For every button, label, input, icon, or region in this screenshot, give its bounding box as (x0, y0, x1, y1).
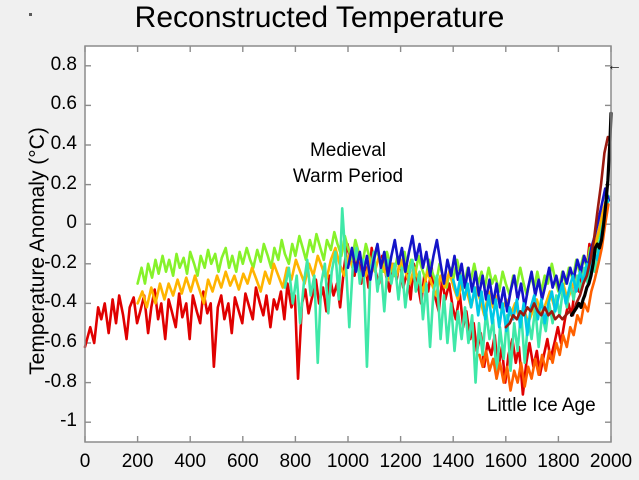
plot-annotation-1: Warm Period (198, 166, 498, 188)
y-tick-label: -0.8 (1, 371, 77, 393)
y-tick-label: -0.4 (1, 291, 77, 313)
y-tick-label: 0.8 (1, 54, 77, 76)
y-tick-label: -0.6 (1, 331, 77, 353)
y-tick-label: 0.2 (1, 173, 77, 195)
chart-figure: Reconstructed Temperature Temperature An… (0, 0, 639, 480)
page-title: Reconstructed Temperature (0, 1, 639, 35)
plot-annotation-0: Medieval (198, 140, 498, 162)
y-tick-label: -1 (1, 410, 77, 432)
y-tick-label: 0.6 (1, 93, 77, 115)
y-tick-label: 0.4 (1, 133, 77, 155)
plot-annotation-2: Little Ice Age (391, 395, 639, 417)
x-tick-label: 2000 (571, 451, 639, 473)
cursor-arrow-icon: ← (607, 58, 622, 73)
y-tick-label: 0 (1, 212, 77, 234)
y-tick-label: -0.2 (1, 252, 77, 274)
